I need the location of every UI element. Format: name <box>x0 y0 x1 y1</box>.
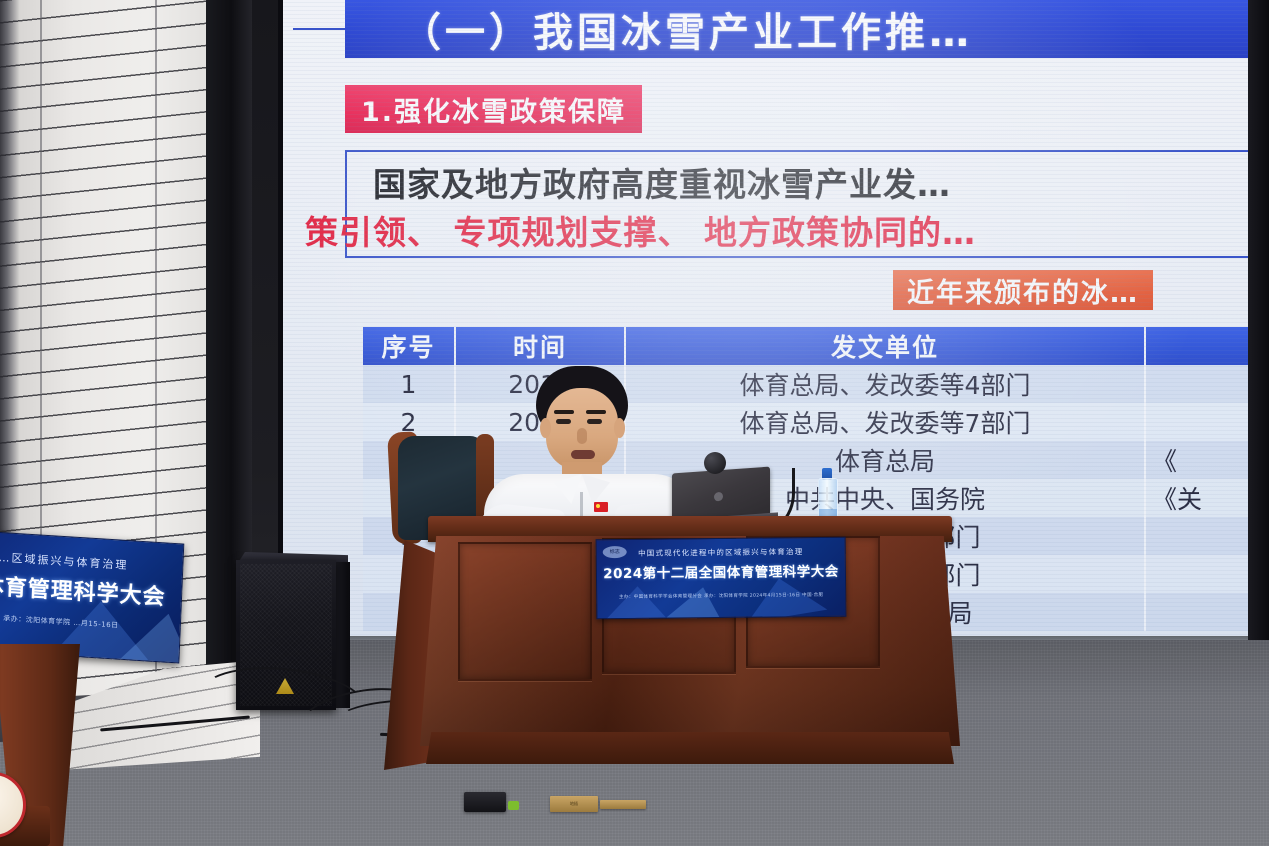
table-header-row: 序号 时间 发文单位 <box>363 327 1269 365</box>
person-nose <box>577 428 587 444</box>
floor-socket-plate: 地插 <box>550 796 598 812</box>
sign-polygon <box>120 611 184 663</box>
podium-plinth <box>426 732 954 764</box>
podium-banner-title: 2024第十二届全国体育管理科学大会 <box>597 560 845 583</box>
person-eyebrow <box>554 410 574 414</box>
slide-orange-tag: 近年来颁布的冰… <box>893 270 1153 310</box>
person-ear <box>614 418 625 438</box>
floor-socket-plate <box>600 800 646 809</box>
table-header-cell: 序号 <box>363 327 455 365</box>
slide-title: （一）我国冰雪产业工作推… <box>345 0 1269 58</box>
banner-polygon <box>601 584 671 620</box>
person-eye <box>587 419 602 424</box>
power-adapter-brick <box>464 792 506 812</box>
person-eyebrow <box>586 410 606 414</box>
podium-panel <box>458 542 592 681</box>
slide-body-line-2: 策引领、 专项规划支撑、 地方政策协同的… <box>305 206 1269 254</box>
podium-banner: 标志 中国式现代化进程中的区域振兴与体育治理 2024第十二届全国体育管理科学大… <box>596 537 847 620</box>
podium-banner-subtitle: 中国式现代化进程中的区域振兴与体育治理 <box>597 546 845 560</box>
person-eye <box>556 419 571 424</box>
right-wall-edge <box>1248 0 1269 670</box>
venue-signboard: …区域振兴与体育治理 …体育管理科学大会 承办：沈阳体育学院 …月15-16日 <box>0 529 184 664</box>
conference-scene: （一）我国冰雪产业工作推… 1.强化冰雪政策保障 国家及地方政府高度重视冰雪产业… <box>0 0 1269 846</box>
person-ear <box>540 418 551 438</box>
green-cable-clip <box>508 801 519 810</box>
banner-polygon <box>661 587 721 619</box>
flag-pin-icon <box>594 502 608 512</box>
table-header-cell: 发文单位 <box>625 327 1145 365</box>
slide-section-heading: 1.强化冰雪政策保障 <box>345 85 642 133</box>
table-header-cell: 时间 <box>455 327 625 365</box>
slide-body-line-1: 国家及地方政府高度重视冰雪产业发… <box>373 158 1269 206</box>
cell-no: 1 <box>363 365 455 403</box>
person-mouth <box>571 450 595 459</box>
floor-plate-label: 地插 <box>550 796 598 812</box>
